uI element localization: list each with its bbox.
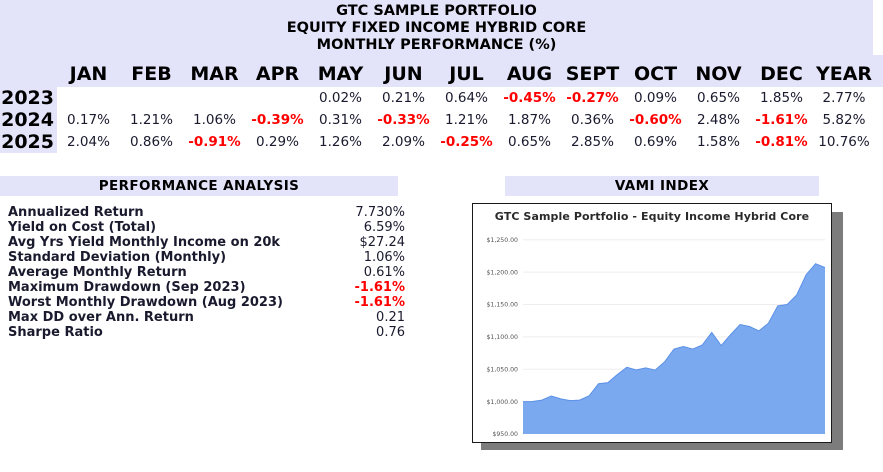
cell-2024-aug: 1.87% — [498, 109, 561, 131]
column-header-sept: SEPT — [561, 55, 624, 87]
vami-y-tick-label: $1,050.00 — [487, 366, 519, 373]
column-header-oct: OCT — [624, 55, 687, 87]
cell-2023-dec: 1.85% — [750, 87, 813, 109]
column-header-dec: DEC — [750, 55, 813, 87]
vami-y-tick-label: $1,100.00 — [487, 334, 519, 341]
cell-2023-aug: -0.45% — [498, 87, 561, 109]
vami-y-axis-tick-labels: $950.00$1,000.00$1,050.00$1,100.00$1,150… — [487, 237, 519, 438]
column-header-apr: APR — [246, 55, 309, 87]
cell-2023-jul: 0.64% — [435, 87, 498, 109]
list-item: Maximum Drawdown (Sep 2023) -1.61% — [8, 280, 408, 295]
cell-2025-year: 10.76% — [813, 131, 875, 153]
metric-label-standard-deviation: Standard Deviation (Monthly) — [8, 250, 303, 265]
cell-2025-sept: 2.85% — [561, 131, 624, 153]
cell-2023-mar — [183, 87, 246, 109]
cell-2025-dec: -0.81% — [750, 131, 813, 153]
cell-2023-sept: -0.27% — [561, 87, 624, 109]
metric-value-sharpe-ratio: 0.76 — [303, 325, 408, 340]
cell-2023-pad — [875, 87, 883, 109]
vami-y-tick-label: $1,200.00 — [487, 269, 519, 276]
cell-2025-nov: 1.58% — [687, 131, 750, 153]
row-year-label: 2023 — [0, 87, 57, 109]
cell-2024-jun: -0.33% — [372, 109, 435, 131]
list-item: Average Monthly Return 0.61% — [8, 265, 408, 280]
metric-label-maximum-drawdown: Maximum Drawdown (Sep 2023) — [8, 280, 303, 295]
cell-2023-jun: 0.21% — [372, 87, 435, 109]
cell-2023-jan — [57, 87, 120, 109]
list-item: Yield on Cost (Total) 6.59% — [8, 220, 408, 235]
cell-2024-nov: 2.48% — [687, 109, 750, 131]
cell-2024-dec: -1.61% — [750, 109, 813, 131]
cell-2023-may: 0.02% — [309, 87, 372, 109]
column-header-pad — [875, 55, 883, 87]
vami-plot-area: $950.00$1,000.00$1,050.00$1,100.00$1,150… — [473, 226, 833, 442]
metric-value-maximum-drawdown: -1.61% — [303, 280, 408, 295]
row-year-label: 2024 — [0, 109, 57, 131]
list-item: Standard Deviation (Monthly) 1.06% — [8, 250, 408, 265]
metric-value-annualized-return: 7.730% — [303, 205, 408, 220]
metric-value-max-dd-over-ann-return: 0.21 — [303, 310, 408, 325]
cell-2024-sept: 0.36% — [561, 109, 624, 131]
performance-analysis-list: Annualized Return 7.730% Yield on Cost (… — [8, 205, 408, 340]
vami-index-band: VAMI INDEX — [505, 176, 819, 196]
vami-y-tick-label: $950.00 — [492, 431, 518, 438]
list-item: Avg Yrs Yield Monthly Income on 20k $27.… — [8, 235, 408, 250]
metric-label-annualized-return: Annualized Return — [8, 205, 303, 220]
cell-2023-oct: 0.09% — [624, 87, 687, 109]
cell-2024-pad — [875, 109, 883, 131]
metric-label-avg-yrs-yield-monthly-income: Avg Yrs Yield Monthly Income on 20k — [8, 235, 303, 250]
list-item: Sharpe Ratio 0.76 — [8, 325, 408, 340]
column-header-nov: NOV — [687, 55, 750, 87]
column-header-aug: AUG — [498, 55, 561, 87]
table-title-spacer — [0, 0, 883, 55]
cell-2025-pad — [875, 131, 883, 153]
metric-value-standard-deviation: 1.06% — [303, 250, 408, 265]
metric-value-avg-yrs-yield-monthly-income: $27.24 — [303, 235, 408, 250]
vami-area-chart: $950.00$1,000.00$1,050.00$1,100.00$1,150… — [473, 226, 833, 442]
table-row: 2024 0.17% 1.21% 1.06% -0.39% 0.31% -0.3… — [0, 109, 883, 131]
metric-label-max-dd-over-ann-return: Max DD over Ann. Return — [8, 310, 303, 325]
metric-value-average-monthly-return: 0.61% — [303, 265, 408, 280]
cell-2025-mar: -0.91% — [183, 131, 246, 153]
cell-2023-nov: 0.65% — [687, 87, 750, 109]
metric-value-worst-monthly-drawdown: -1.61% — [303, 295, 408, 310]
cell-2025-apr: 0.29% — [246, 131, 309, 153]
cell-2024-may: 0.31% — [309, 109, 372, 131]
cell-2024-oct: -0.60% — [624, 109, 687, 131]
column-header-jul: JUL — [435, 55, 498, 87]
cell-2025-jul: -0.25% — [435, 131, 498, 153]
cell-2023-feb — [120, 87, 183, 109]
list-item: Max DD over Ann. Return 0.21 — [8, 310, 408, 325]
table-title-spacer-cell — [0, 0, 883, 55]
monthly-table-body: 2023 0.02% 0.21% 0.64% -0.45% -0.27% 0.0… — [0, 87, 883, 153]
column-header-may: MAY — [309, 55, 372, 87]
year-column-corner — [0, 55, 57, 87]
column-header-feb: FEB — [120, 55, 183, 87]
vami-y-tick-label: $1,000.00 — [487, 399, 519, 406]
cell-2024-feb: 1.21% — [120, 109, 183, 131]
metric-label-average-monthly-return: Average Monthly Return — [8, 265, 303, 280]
vami-chart-title: GTC Sample Portfolio - Equity Income Hyb… — [473, 210, 831, 223]
cell-2025-aug: 0.65% — [498, 131, 561, 153]
cell-2024-year: 5.82% — [813, 109, 875, 131]
metric-value-yield-on-cost: 6.59% — [303, 220, 408, 235]
cell-2025-jan: 2.04% — [57, 131, 120, 153]
column-header-jun: JUN — [372, 55, 435, 87]
cell-2025-may: 1.26% — [309, 131, 372, 153]
metric-label-yield-on-cost: Yield on Cost (Total) — [8, 220, 303, 235]
list-item: Annualized Return 7.730% — [8, 205, 408, 220]
cell-2024-mar: 1.06% — [183, 109, 246, 131]
table-row: 2023 0.02% 0.21% 0.64% -0.45% -0.27% 0.0… — [0, 87, 883, 109]
column-header-year: YEAR — [813, 55, 875, 87]
month-header-row: JAN FEB MAR APR MAY JUN JUL AUG SEPT OCT… — [0, 55, 883, 87]
performance-analysis-band: PERFORMANCE ANALYSIS — [0, 176, 398, 196]
vami-y-tick-label: $1,150.00 — [487, 302, 519, 309]
cell-2025-jun: 2.09% — [372, 131, 435, 153]
row-year-label: 2025 — [0, 131, 57, 153]
cell-2024-jan: 0.17% — [57, 109, 120, 131]
cell-2024-jul: 1.21% — [435, 109, 498, 131]
cell-2024-apr: -0.39% — [246, 109, 309, 131]
cell-2025-feb: 0.86% — [120, 131, 183, 153]
cell-2023-year: 2.77% — [813, 87, 875, 109]
vami-chart-container: GTC Sample Portfolio - Equity Income Hyb… — [472, 203, 832, 443]
column-header-mar: MAR — [183, 55, 246, 87]
cell-2025-oct: 0.69% — [624, 131, 687, 153]
metric-label-sharpe-ratio: Sharpe Ratio — [8, 325, 303, 340]
performance-metrics-table: Annualized Return 7.730% Yield on Cost (… — [8, 205, 408, 340]
vami-y-tick-label: $1,250.00 — [487, 237, 519, 244]
cell-2023-apr — [246, 87, 309, 109]
column-header-jan: JAN — [57, 55, 120, 87]
metric-label-worst-monthly-drawdown: Worst Monthly Drawdown (Aug 2023) — [8, 295, 303, 310]
monthly-performance-table: JAN FEB MAR APR MAY JUN JUL AUG SEPT OCT… — [0, 0, 883, 153]
table-row: 2025 2.04% 0.86% -0.91% 0.29% 1.26% 2.09… — [0, 131, 883, 153]
list-item: Worst Monthly Drawdown (Aug 2023) -1.61% — [8, 295, 408, 310]
